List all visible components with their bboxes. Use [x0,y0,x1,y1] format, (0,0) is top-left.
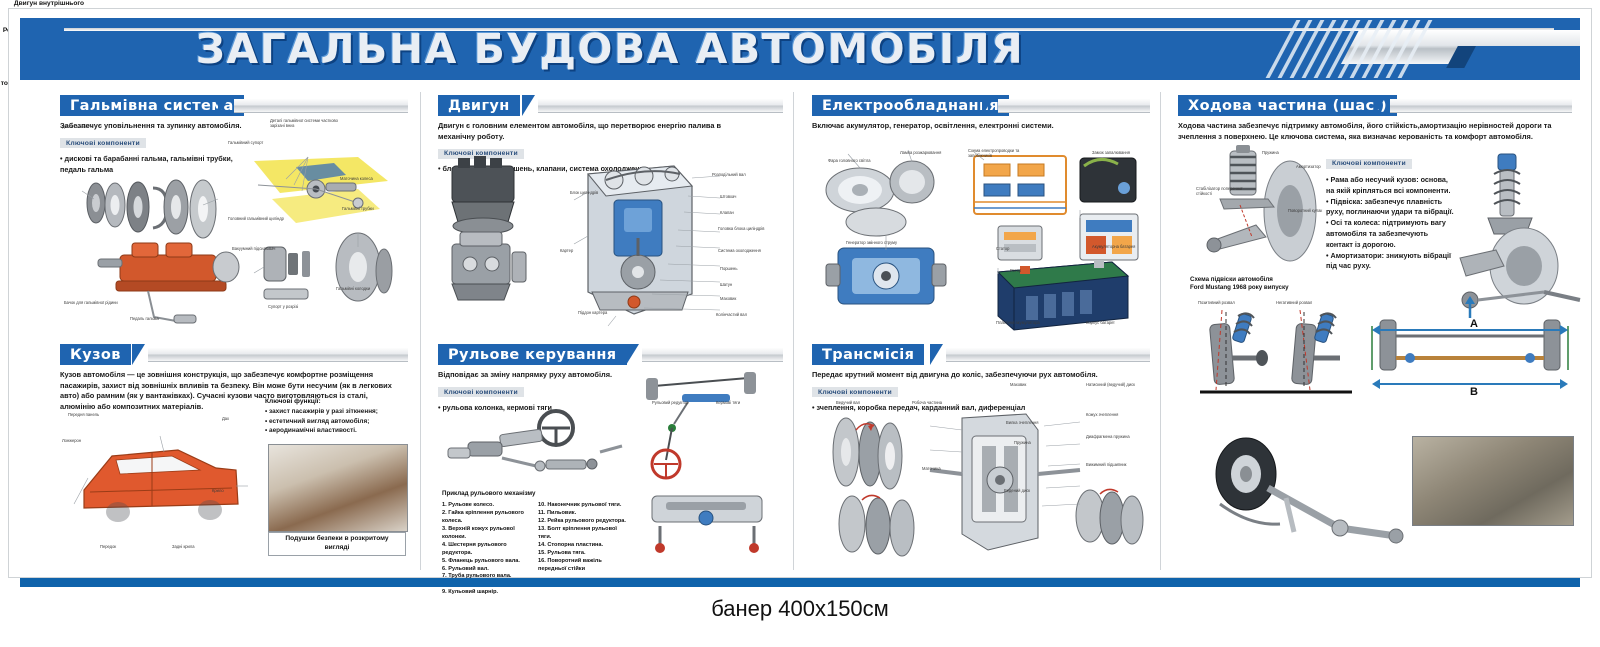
engine-label-2: Клапан [720,210,734,215]
steering-item-14: 14. Стопорна пластина. [538,542,630,550]
brake-discs-group [87,180,216,238]
section-title-steering: Рульове керування [448,347,617,363]
section-title-tab-steering: Рульове керування [438,344,627,365]
transmission-label-1: Натискний (ведучий) диск [1086,382,1142,387]
section-rail [642,348,783,362]
brake-label-14: Супорт у розрізі [268,304,298,309]
section-intro-engine: Двигун є головним елементом автомобіля, … [438,121,738,142]
engine-label-5: Поршень [720,266,737,271]
brake-label-0: Диски гальмівні [62,124,92,129]
section-rail [234,99,408,113]
clutch-exploded-left [833,418,914,556]
key-components-badge-brakes: Ключові компоненти [60,138,146,148]
section-rail [946,348,1150,362]
steering-item-16: 16. Поворотний важіль передньої стійки [538,558,630,574]
section-header-brakes: Гальмівна система [60,95,408,116]
steering-item-13: 13. Болт кріплення рульової тяги. [538,526,630,542]
alternator-art [826,248,946,304]
electrics-diagram [812,140,1152,335]
engine-label-1: Штовхач [720,194,736,199]
footer-blue-bar [20,578,1580,587]
steering-item-3: 3. Верхній кожух рульової колонки. [442,526,534,542]
tab-arrow-icon [626,344,639,365]
body-label-5: Крило [212,488,224,493]
section-title-brakes: Гальмівна система [70,98,234,114]
camber-diagram [1186,300,1356,404]
brake-label-1: Гальмівний супорт [228,140,263,145]
electrics-label-9: Ротор [1010,268,1021,273]
transmission-label-4: Диафрагмена пружина [1086,434,1142,439]
body-label-8: Передок [100,544,116,549]
electrics-label-16: Корпус батареї [1086,320,1115,325]
section-intro-chassis: Ходова частина забезпечує підтримку авто… [1178,121,1566,142]
poster-root: ЗАГАЛЬНА БУДОВА АВТОМОБІЛЯ Гальмівна сис… [0,0,1600,647]
section-header-chassis: Ходова частина (шасі) [1178,95,1572,116]
section-title-chassis: Ходова частина (шасі) [1188,98,1387,114]
transmission-label-11: Маточина [922,466,941,471]
engine-label-3: Головка блока циліндрів [718,226,770,231]
chassis-photo [1412,436,1574,526]
chassis-key-components: Ключові компоненти • Рама або несучий ку… [1326,152,1454,272]
rack-schematic-bottom [652,496,762,553]
steering-item-10: 10. Наконечник рульової тяги. [538,502,630,510]
electrics-label-12: Акумуляторна батарея [1092,244,1142,249]
section-header-transmission: Трансмісія [812,344,1150,365]
master-cylinder-assembly [98,243,239,323]
column-divider-3 [1160,92,1161,570]
chassis-component-1: • Підвіска: забезпечує плавність руху, п… [1326,197,1454,219]
rack-schematic-top [646,372,756,478]
chassis-label-8: Негативний розвал [1276,300,1312,305]
section-intro-electrics: Включає акумулятор, генератор, освітленн… [812,121,1142,132]
transmission-label-9: Пружина [1014,440,1031,445]
tab-arrow-icon [1374,95,1387,116]
body-function-2: • аеродинамічні властивості. [265,426,405,436]
chassis-label-0: Пружина [1262,150,1314,155]
section-title-tab-chassis: Ходова частина (шасі) [1178,95,1397,116]
section-intro-steering: Відповідає за зміну напрямку руху автомо… [438,370,648,381]
transmission-label-2: Ведений диск [1004,488,1030,493]
electrics-label-3: Схема електропроводки та запобіжників [968,148,1032,158]
steering-item-12: 12. Рейка рульового редуктора. [538,518,630,526]
page-title: ЗАГАЛЬНА БУДОВА АВТОМОБІЛЯ [20,18,1200,80]
chassis-label-3: Поворотний кулак [1288,208,1324,213]
headlamp-art [826,161,934,236]
column-divider-2 [793,92,794,570]
body-functions-label: Ключові функції: [265,398,405,405]
air-cooled-engine-art [452,156,514,234]
camber-positive [1209,310,1268,390]
section-title-transmission: Трансмісія [822,347,914,363]
section-title-tab-electrics: Електрообладнання [812,95,1009,116]
section-rail [538,99,783,113]
body-label-4: Лонжерон [62,438,81,443]
poster-header: ЗАГАЛЬНА БУДОВА АВТОМОБІЛЯ [20,18,1580,80]
steering-item-2: 2. Гайка кріплення рульового колеса. [442,510,534,526]
section-title-body: Кузов [70,347,121,363]
brakes-diagram [58,155,410,355]
electrics-label-0: Фара головного світла [828,158,876,163]
section-header-steering: Рульове керування [438,344,783,365]
steering-item-1: 1. Рульове колесо. [442,502,534,510]
transmission-label-3: Кожух зчеплення [1086,412,1118,417]
fusebox-art [998,214,1138,260]
engine-label-9: Блок циліндрів [570,190,598,195]
engine-label-12: Піддон картера [578,310,607,315]
chassis-scheme-caption: Схема підвіски автомобіля Ford Mustang 1… [1190,276,1340,293]
strut-icon [1488,154,1532,234]
engine-label-6: Шатун [720,282,732,287]
transmission-label-10: Робоча частина [912,400,942,405]
electrics-label-2: Лампа розжарювання [900,150,944,155]
brake-label-2: Гальмівні колодки [336,286,370,291]
brake-label-7: Бачок для гальмівної рідини [64,300,118,305]
section-title-tab-brakes: Гальмівна система [60,95,244,116]
clutch-diagram [812,400,1152,560]
section-title-electrics: Електрообладнання [822,98,999,114]
camber-negative [1291,310,1340,390]
brake-label-3: Маточина колеса [340,176,373,181]
section-rail [148,348,408,362]
brake-label-12: Деталі гальмівної системи частково заріз… [270,118,342,128]
chassis-component-0: • Рама або несучий кузов: основа, на які… [1326,175,1454,197]
section-header-engine: Двигун [438,95,783,116]
section-rail [1390,99,1572,113]
body-function-0: • захист пасажирів у разі зіткнення; [265,407,405,417]
section-title-tab-body: Кузов [60,344,131,365]
engine-label-4: Система охолодження [718,248,761,253]
body-shell-art [60,408,260,548]
section-chassis: Ходова частина (шасі) Ходова частина заб… [1178,95,1572,142]
steering-item-15: 15. Рульова тяга. [538,550,630,558]
banner-size-caption: банер 400х150см [0,596,1600,622]
chassis-components-list: • Рама або несучий кузов: основа, на які… [1326,175,1454,272]
section-header-body: Кузов [60,344,408,365]
body-caption-photo: Подушки безпеки в розкритому вигляді [268,532,406,556]
tab-arrow-icon [982,95,995,116]
engine-label-0: Розподільний вал [712,172,746,177]
engine-label-7: Маховик [720,296,736,301]
body-label-7: Задні крила [172,544,194,549]
body-key-functions: Ключові функції: • захист пасажирів у ра… [265,398,405,436]
brake-label-6: Вакуумний підсилювач [232,246,275,251]
body-functions-list: • захист пасажирів у разі зіткнення; • е… [265,407,405,436]
steering-mechanism-art [440,406,630,484]
chassis-component-3: • Амортизатори: знижують вібрації під ча… [1326,251,1454,273]
brake-caliper-detail [264,233,392,301]
steering-item-4: 4. Шестерня рульового редуктора. [442,542,534,558]
cutaway-engine-art [452,232,526,300]
key-components-badge-chassis: Ключові компоненти [1326,159,1412,169]
brake-label-9: Гальмівні трубки [342,206,374,211]
tab-arrow-icon [522,95,535,116]
brake-label-8: Педаль гальма [130,316,159,321]
brake-label-5: Головний гальмівний циліндр [228,216,284,221]
tab-arrow-icon [218,95,231,116]
body-label-0: Передня панель [68,412,99,417]
section-header-electrics: Електрообладнання [812,95,1150,116]
body-label-2: Дах [222,416,229,421]
tab-arrow-icon [930,344,943,365]
electrics-label-6: Замок запалювання [1092,150,1130,155]
key-components-badge-steering: Ключові компоненти [438,387,524,397]
toe-marker-a: A [1470,318,1478,330]
transmission-label-7: Ведучий вал [836,400,860,405]
steering-label-2: Рульовий редуктор [652,400,689,405]
steering-item-5: 5. Фланець рульового вала. [442,558,534,566]
chassis-suspension-art [1190,145,1320,265]
header-diagonal-stripes-icon [1260,20,1471,78]
header-blue-tail [1460,46,1580,76]
engine-diagram [438,152,783,332]
section-title-tab-transmission: Трансмісія [812,344,924,365]
section-intro-transmission: Передає крутний момент від двигуна до ко… [812,370,1142,381]
engine-label-8: Колінчастий вал [716,312,747,317]
toe-marker-b: B [1470,386,1478,398]
steering-numbered-right: 10. Наконечник рульової тяги. 11. Пильов… [538,502,630,573]
chassis-strut-art [1448,150,1588,320]
clutch-exploded-right [1076,489,1143,544]
tab-arrow-icon [132,344,145,365]
transmission-label-5: Вижимний підшипник [1086,462,1142,467]
transmission-label-0: Маховик [1010,382,1026,387]
single-cylinder-engine-art [588,166,692,314]
column-divider-1 [420,92,421,570]
torsion-axle-art [1190,432,1410,562]
section-title-engine: Двигун [448,98,510,114]
steering-rack-schematics [636,368,786,558]
key-components-badge-transmission: Ключові компоненти [812,387,898,397]
page-title-text: ЗАГАЛЬНА БУДОВА АВТОМОБІЛЯ [196,25,1024,73]
wiring-schematic-art [974,156,1136,214]
electrics-label-14: Пластини акумулятора [996,320,1040,325]
brake-hydraulic-schematic [254,157,388,223]
chassis-component-2: • Осі та колеса: підтримують вагу автомо… [1326,218,1454,250]
chassis-label-5: Стабілізатор поперечної стійкості [1196,186,1250,196]
chassis-label-7: Позитивний розвал [1198,300,1235,305]
transmission-label-8: Вилка зчеплення [1006,420,1038,425]
section-title-tab-engine: Двигун [438,95,520,116]
steering-item-11: 11. Пильовик. [538,510,630,518]
engine-label-11: Картер [560,248,573,253]
steering-example-title: Приклад рульового механізму [442,490,535,498]
clutch-cutaway [930,414,1080,550]
body-function-1: • естетичний вигляд автомобіля; [265,417,405,427]
electrics-label-8: Статор [996,246,1009,251]
steering-label-3: Кермові тяги [716,400,740,405]
section-electrics: Електрообладнання Включає акумулятор, ге… [812,95,1150,132]
electrics-label-7: Генератор змінного струму [846,240,897,245]
section-rail [998,99,1150,113]
airbag-photo [268,444,408,532]
